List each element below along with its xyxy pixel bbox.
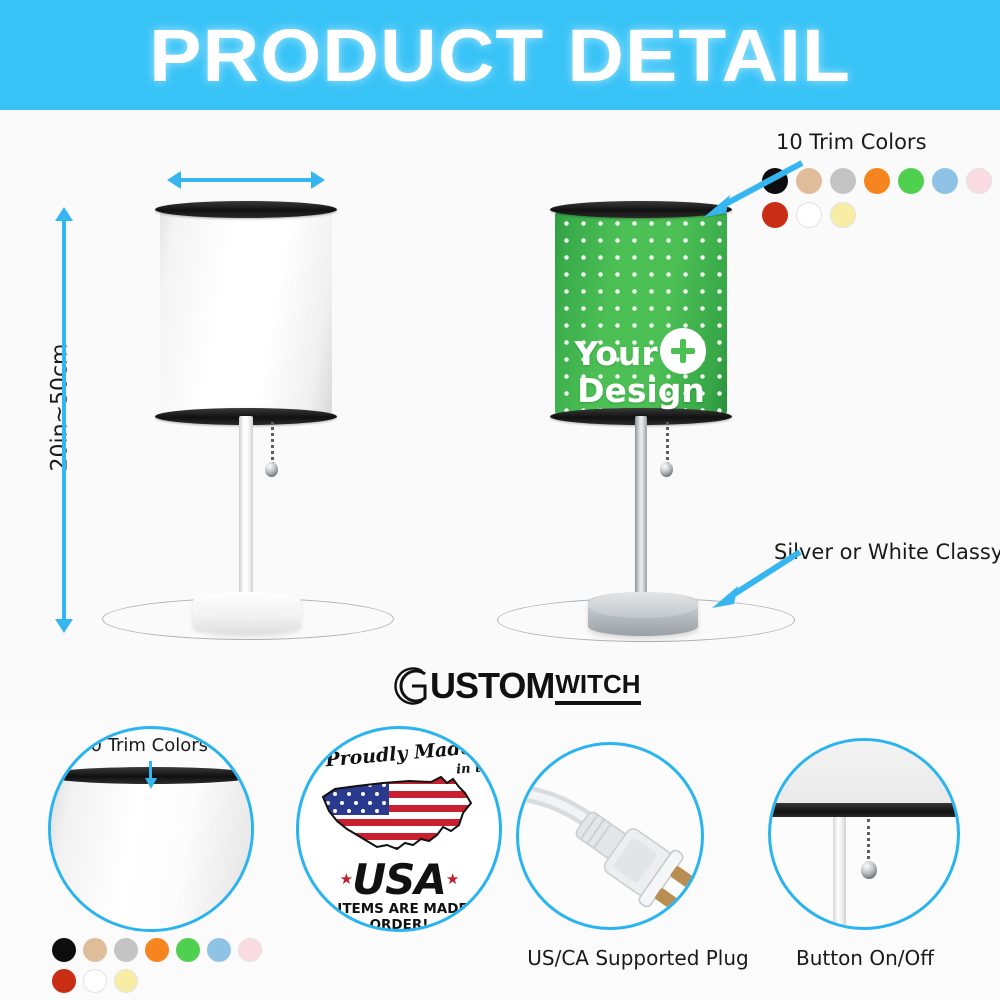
logo-c-icon <box>392 665 432 707</box>
trim-swatch-orange[interactable] <box>864 168 890 194</box>
pull-chain-ball[interactable] <box>660 462 673 477</box>
shade-closeup-surface <box>51 773 251 932</box>
lamp-base-white <box>193 592 301 634</box>
feature-switch-caption: Button On/Off <box>740 946 990 970</box>
trim-color-swatches-bottom[interactable] <box>52 938 292 993</box>
trim-swatch-pink[interactable] <box>238 938 262 962</box>
trim-swatch-white[interactable] <box>83 969 107 993</box>
product-detail-page: PRODUCT DETAIL 7in~18cm 20in~50cm <box>0 0 1000 1000</box>
shade-closeup-bottom <box>768 741 960 809</box>
polka-dot-pattern <box>555 210 727 416</box>
trim-swatch-black[interactable] <box>52 938 76 962</box>
trim-swatch-yellow[interactable] <box>114 969 138 993</box>
trim-pointer-arrow-top <box>690 155 810 225</box>
height-dimension-arrow <box>62 220 66 620</box>
logo-secondary-text: WITCH <box>555 669 640 705</box>
brand-logo: USTOM WITCH <box>392 665 641 707</box>
base-top-surface <box>193 592 301 616</box>
trim-colors-down-arrow <box>149 761 152 779</box>
trim-swatch-yellow[interactable] <box>830 202 856 228</box>
lamp-pole-silver <box>635 416 647 621</box>
trim-swatch-red[interactable] <box>52 969 76 993</box>
trim-swatch-pink[interactable] <box>966 168 992 194</box>
star-left-icon: ★ <box>340 870 352 888</box>
us-plug-icon <box>519 745 701 927</box>
lampshade-white <box>160 210 332 416</box>
trim-swatch-gray[interactable] <box>830 168 856 194</box>
base-finish-pointer-arrow <box>700 542 810 622</box>
trim-swatch-gray[interactable] <box>114 938 138 962</box>
usa-word: USA <box>352 855 446 904</box>
feature-switch <box>768 738 960 930</box>
pull-chain[interactable] <box>666 422 672 465</box>
trim-swatch-light-blue[interactable] <box>207 938 231 962</box>
width-dimension-arrow <box>180 178 312 182</box>
feature-trim-colors: 10 Trim Colors <box>48 726 254 932</box>
pull-chain[interactable] <box>271 422 277 465</box>
shade-surface <box>160 210 332 416</box>
trim-ring-top <box>155 201 337 218</box>
feature-plug <box>516 742 704 930</box>
usa-badge-sub-text: ALL ITEMS ARE MADE TO ORDER! <box>299 901 499 932</box>
trim-ring-closeup <box>768 803 960 817</box>
lamp-showcase: 7in~18cm 20in~50cm <box>0 110 1000 720</box>
pull-chain-ball[interactable] <box>265 462 278 477</box>
lamp-pole-closeup <box>833 817 846 929</box>
header-banner: PRODUCT DETAIL <box>0 0 1000 110</box>
trim-swatch-light-blue[interactable] <box>932 168 958 194</box>
usa-map-flag-icon <box>313 769 485 861</box>
star-right-icon: ★ <box>446 870 458 888</box>
trim-swatch-tan[interactable] <box>83 938 107 962</box>
lamp-pole-white <box>239 416 253 621</box>
lamp-base-silver <box>588 592 698 636</box>
height-dimension-label: 20in~50cm <box>48 328 73 488</box>
trim-swatch-orange[interactable] <box>145 938 169 962</box>
lamp-white <box>160 210 340 630</box>
pull-chain-ball-closeup[interactable] <box>861 861 877 879</box>
logo-primary-text: USTOM <box>430 665 554 707</box>
page-title: PRODUCT DETAIL <box>149 13 851 98</box>
lampshade-custom[interactable]: Your Design <box>555 210 727 416</box>
base-top-surface <box>588 592 698 618</box>
pull-chain-closeup[interactable] <box>867 819 873 865</box>
usa-badge-main-text: ★USA★ <box>299 855 499 904</box>
trim-colors-top-label: 10 Trim Colors <box>776 130 927 154</box>
feature-made-in-usa: Proudly Made in the <box>296 726 502 932</box>
feature-trim-colors-label: 10 Trim Colors <box>79 735 208 756</box>
trim-swatch-green[interactable] <box>898 168 924 194</box>
trim-swatch-green[interactable] <box>176 938 200 962</box>
